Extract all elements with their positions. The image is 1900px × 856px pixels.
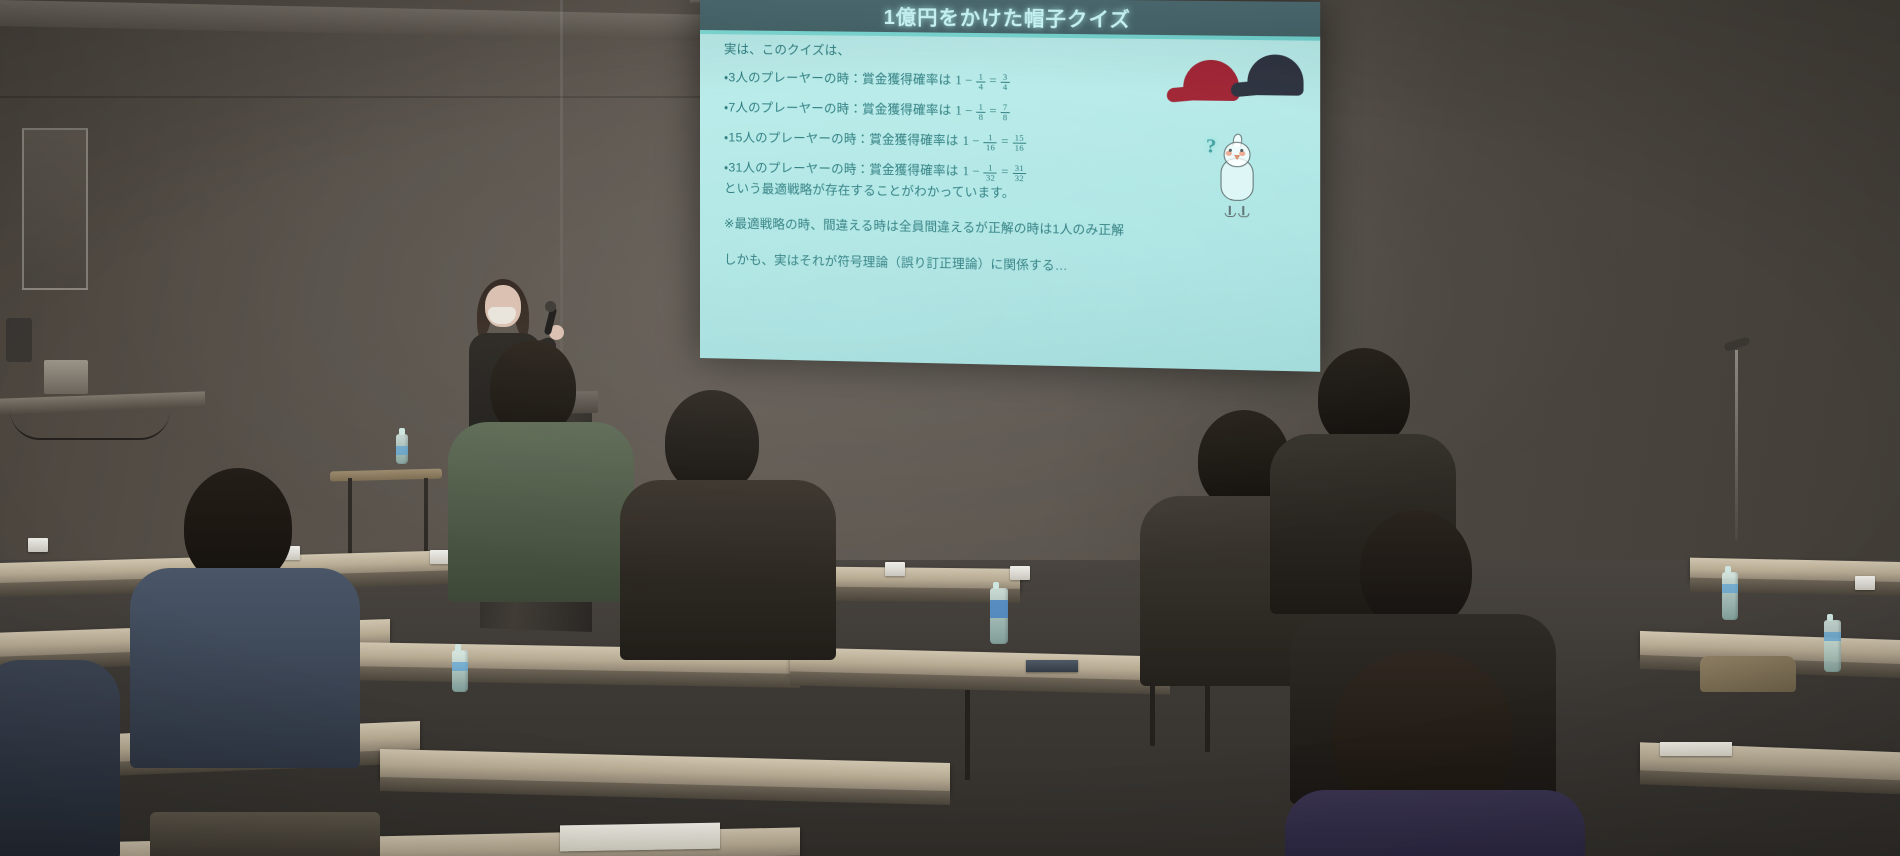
photo-vignette [0,0,1900,856]
lecture-hall-screenshot: 1億円をかけた帽子クイズ 実は、このクイズは、 ・3人のプレーヤーの時：賞金獲得… [0,0,1900,856]
